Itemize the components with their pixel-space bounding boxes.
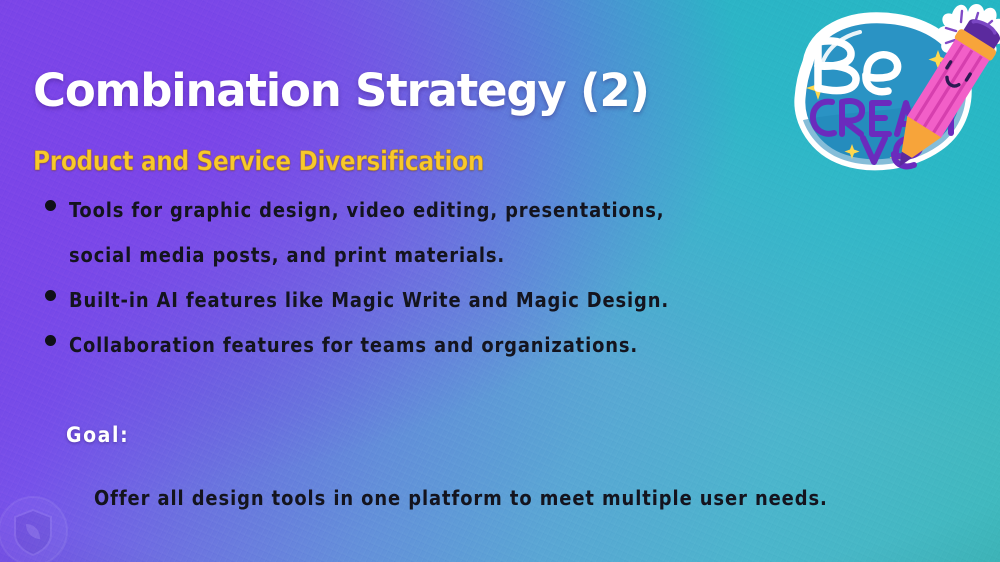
list-item-continuation: social media posts, and print materials. bbox=[45, 233, 925, 278]
be-creative-sticker bbox=[756, 2, 1000, 182]
bullet-dot-icon bbox=[45, 200, 56, 211]
list-item: Built-in AI features like Magic Write an… bbox=[45, 278, 925, 323]
bullet-text-continuation: social media posts, and print materials. bbox=[69, 233, 505, 278]
bullet-dot-icon bbox=[45, 290, 56, 301]
page-subtitle: Product and Service Diversification bbox=[33, 148, 484, 175]
shield-badge-watermark bbox=[0, 494, 70, 562]
bullet-list: Tools for graphic design, video editing,… bbox=[45, 188, 925, 368]
bullet-text: Collaboration features for teams and org… bbox=[69, 323, 638, 368]
list-item: Collaboration features for teams and org… bbox=[45, 323, 925, 368]
page-title: Combination Strategy (2) bbox=[33, 68, 649, 113]
list-item: Tools for graphic design, video editing,… bbox=[45, 188, 925, 233]
slide-canvas: Combination Strategy (2) Product and Ser… bbox=[0, 0, 1000, 562]
bullet-text: Built-in AI features like Magic Write an… bbox=[69, 278, 669, 323]
goal-statement: Offer all design tools in one platform t… bbox=[94, 488, 828, 509]
goal-label: Goal: bbox=[66, 425, 129, 446]
bullet-text: Tools for graphic design, video editing,… bbox=[69, 188, 664, 233]
bullet-dot-icon bbox=[45, 335, 56, 346]
